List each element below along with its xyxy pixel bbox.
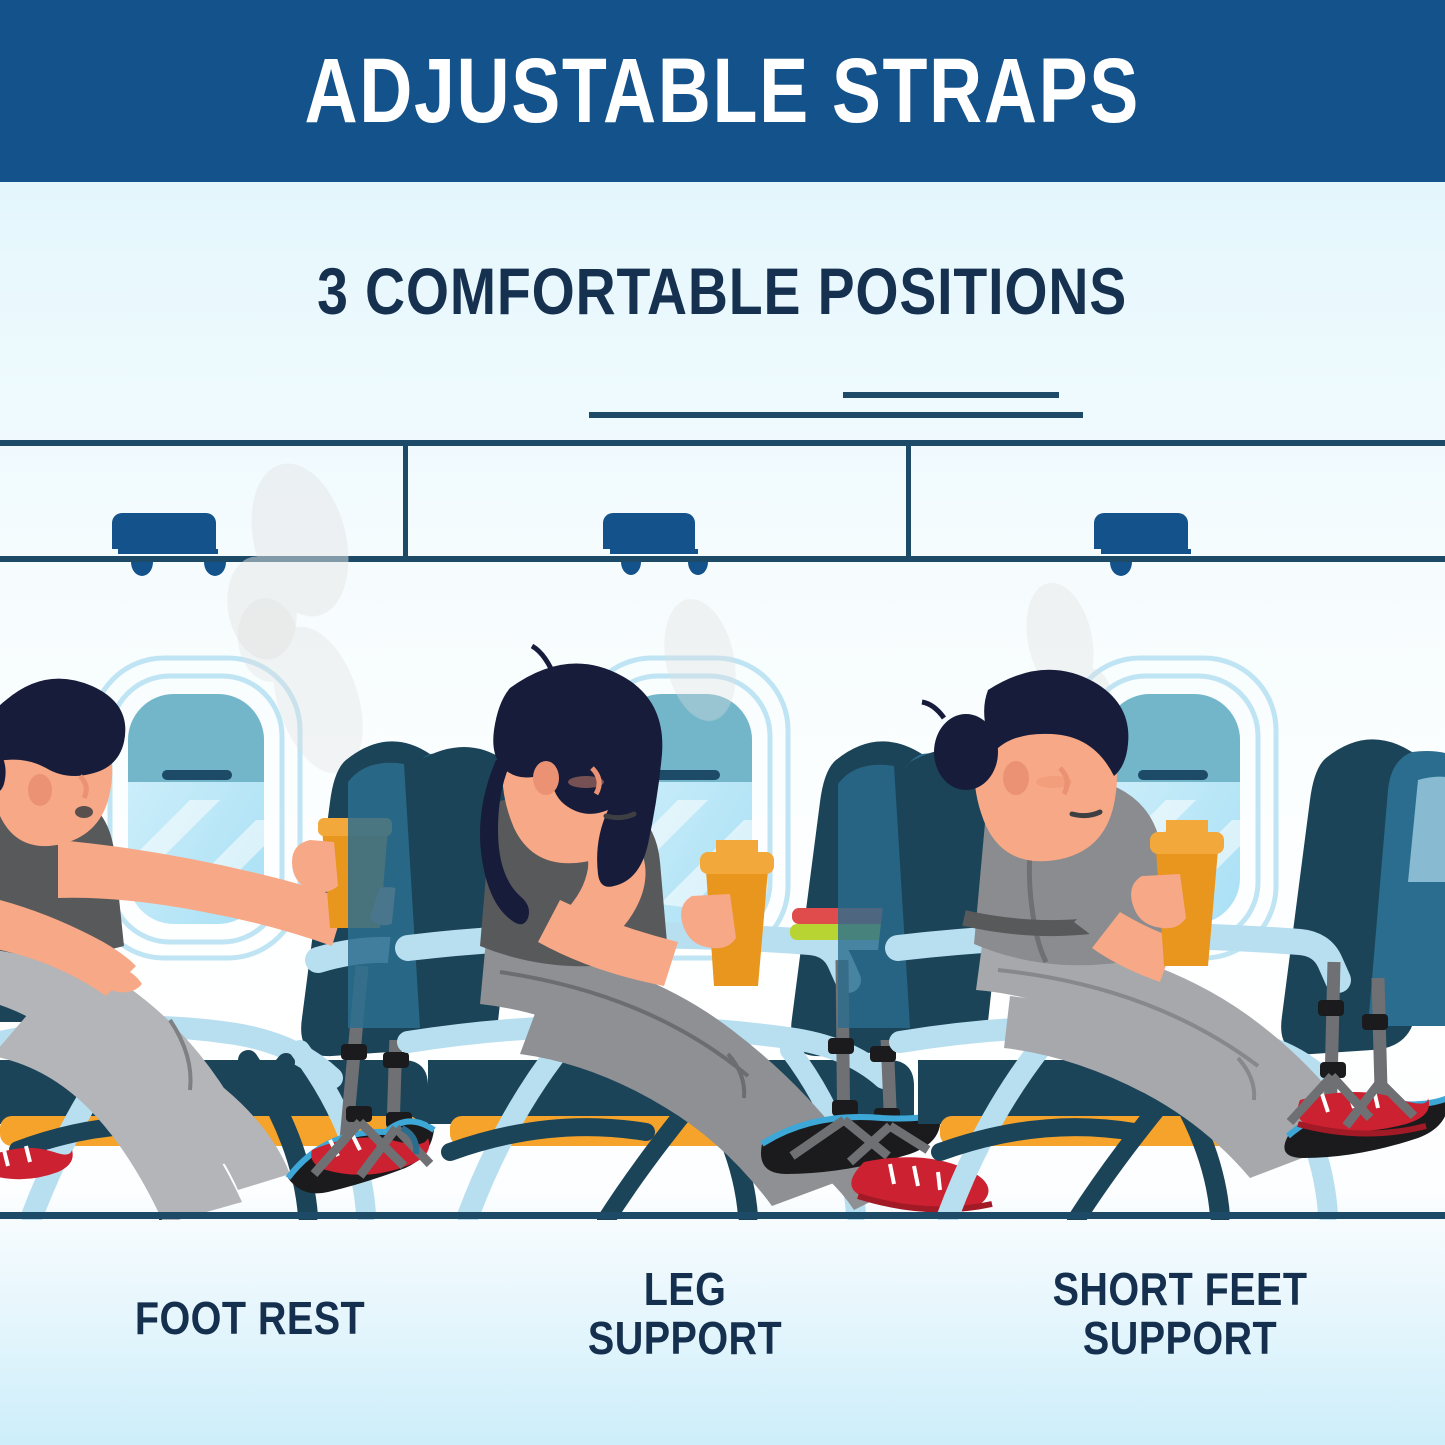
caption-short-feet-support: SHORT FEET SUPPORT xyxy=(940,1265,1420,1363)
caption-leg-support-line-1: LEG xyxy=(504,1265,865,1314)
caption-short-feet-support-line-2: SUPPORT xyxy=(974,1314,1387,1363)
bin-handle-3[interactable] xyxy=(1094,513,1191,576)
caption-short-feet-support-line-1: SHORT FEET xyxy=(974,1265,1387,1314)
cabin-floor-line xyxy=(0,1212,1445,1219)
cabin-illustration xyxy=(0,0,1445,1445)
ceiling-accent-lines xyxy=(589,392,1083,418)
caption-leg-support-line-2: SUPPORT xyxy=(504,1314,865,1363)
caption-foot-rest-line-1: FOOT REST xyxy=(69,1294,430,1343)
caption-leg-support: LEG SUPPORT xyxy=(475,1265,895,1363)
bin-handle-1[interactable] xyxy=(112,513,226,576)
bin-handle-2[interactable] xyxy=(603,513,708,575)
caption-foot-rest: FOOT REST xyxy=(40,1294,460,1343)
infographic-page: ADJUSTABLE STRAPS 3 COMFORTABLE POSITION… xyxy=(0,0,1445,1445)
